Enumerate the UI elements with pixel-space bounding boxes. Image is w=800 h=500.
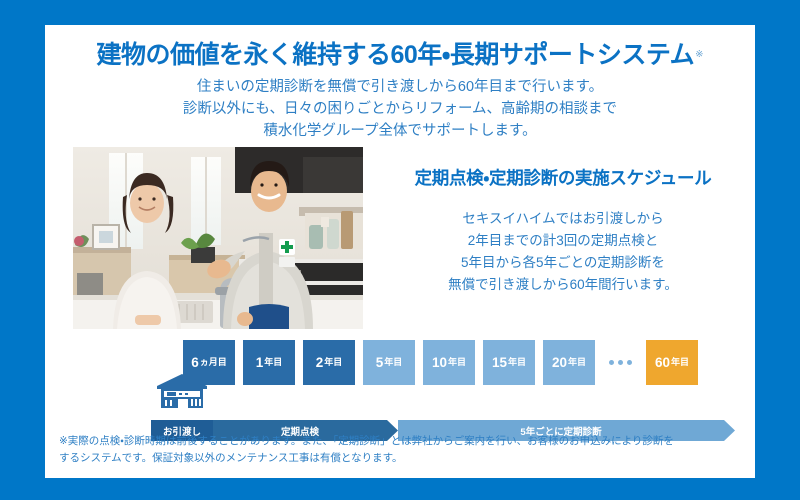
page-title: 建物の価値を永く維持する60年・長期サポートシステム※ (45, 35, 755, 71)
ellipsis-dots-icon (603, 360, 638, 365)
milestone-suffix: 年目 (448, 358, 466, 367)
milestone-number: 10 (432, 356, 447, 370)
milestone-suffix: 年目 (324, 358, 342, 367)
milestone-suffix: 年目 (508, 358, 526, 367)
milestone-suffix: 年目 (384, 358, 402, 367)
milestone-number: 5 (376, 356, 384, 370)
milestone-number: 1 (256, 356, 264, 370)
photo-illustration (73, 147, 363, 329)
milestone-card-list: 6ヵ月目 1年目 2年目 5年目 10年目 15年目 20年目 (183, 340, 698, 385)
lead-paragraph: 住まいの定期診断を無償で引き渡しから60年目まで行います。 診断以外にも、日々の… (45, 77, 755, 142)
schedule-panel: 定期点検・定期診断の実施スケジュール セキスイハイムではお引渡しから 2年目まで… (385, 165, 741, 295)
panel-line-2: 2年目までの計3回の定期点検と (385, 230, 741, 252)
milestone-card[interactable]: 1年目 (243, 340, 295, 385)
inspection-timeline: 6ヵ月目 1年目 2年目 5年目 10年目 15年目 20年目 (45, 340, 755, 410)
page-title-text: 建物の価値を永く維持する60年・長期サポートシステム (97, 35, 695, 71)
lead-line-3: 積水化学グループ全体でサポートします。 (45, 121, 755, 143)
panel-line-3: 5年目から各5年ごとの定期診断を (385, 252, 741, 274)
lead-line-2: 診断以外にも、日々の困りごとからリフォーム、高齢期の相談まで (45, 99, 755, 121)
footnote-line-1: ※実際の点検・診断時期は前後することがあります。また、「定期診断」とは弊社からご… (59, 433, 743, 450)
milestone-card[interactable]: 5年目 (363, 340, 415, 385)
milestone-number: 15 (492, 356, 507, 370)
milestone-card[interactable]: 10年目 (423, 340, 475, 385)
panel-line-1: セキスイハイムではお引渡しから (385, 208, 741, 230)
panel-body: セキスイハイムではお引渡しから 2年目までの計3回の定期点検と 5年目から各5年… (385, 208, 741, 295)
milestone-card[interactable]: 15年目 (483, 340, 535, 385)
milestone-suffix: 年目 (568, 358, 586, 367)
milestone-number: 60 (655, 356, 670, 370)
panel-line-4: 無償で引き渡しから60年間行います。 (385, 274, 741, 296)
lead-line-1: 住まいの定期診断を無償で引き渡しから60年目まで行います。 (45, 77, 755, 99)
milestone-suffix: ヵ月目 (200, 358, 227, 367)
milestone-number: 2 (316, 356, 324, 370)
milestone-number: 20 (552, 356, 567, 370)
milestone-card[interactable]: 20年目 (543, 340, 595, 385)
footnote-line-2: するシステムです。保証対象以外のメンテナンス工事は有償となります。 (59, 450, 743, 467)
milestone-suffix: 年目 (671, 358, 689, 367)
service-visit-photo (73, 147, 363, 329)
footnote: ※実際の点検・診断時期は前後することがあります。また、「定期診断」とは弊社からご… (59, 433, 743, 468)
milestone-suffix: 年目 (264, 358, 282, 367)
title-asterisk-mark: ※ (695, 49, 703, 60)
panel-title: 定期点検・定期診断の実施スケジュール (385, 165, 741, 190)
milestone-card[interactable]: 60年目 (646, 340, 698, 385)
milestone-number: 6 (191, 356, 199, 370)
milestone-card[interactable]: 2年目 (303, 340, 355, 385)
slide-root: 建物の価値を永く維持する60年・長期サポートシステム※ 住まいの定期診断を無償で… (0, 0, 800, 500)
milestone-card[interactable]: 6ヵ月目 (183, 340, 235, 385)
content-card: 建物の価値を永く維持する60年・長期サポートシステム※ 住まいの定期診断を無償で… (45, 25, 755, 478)
